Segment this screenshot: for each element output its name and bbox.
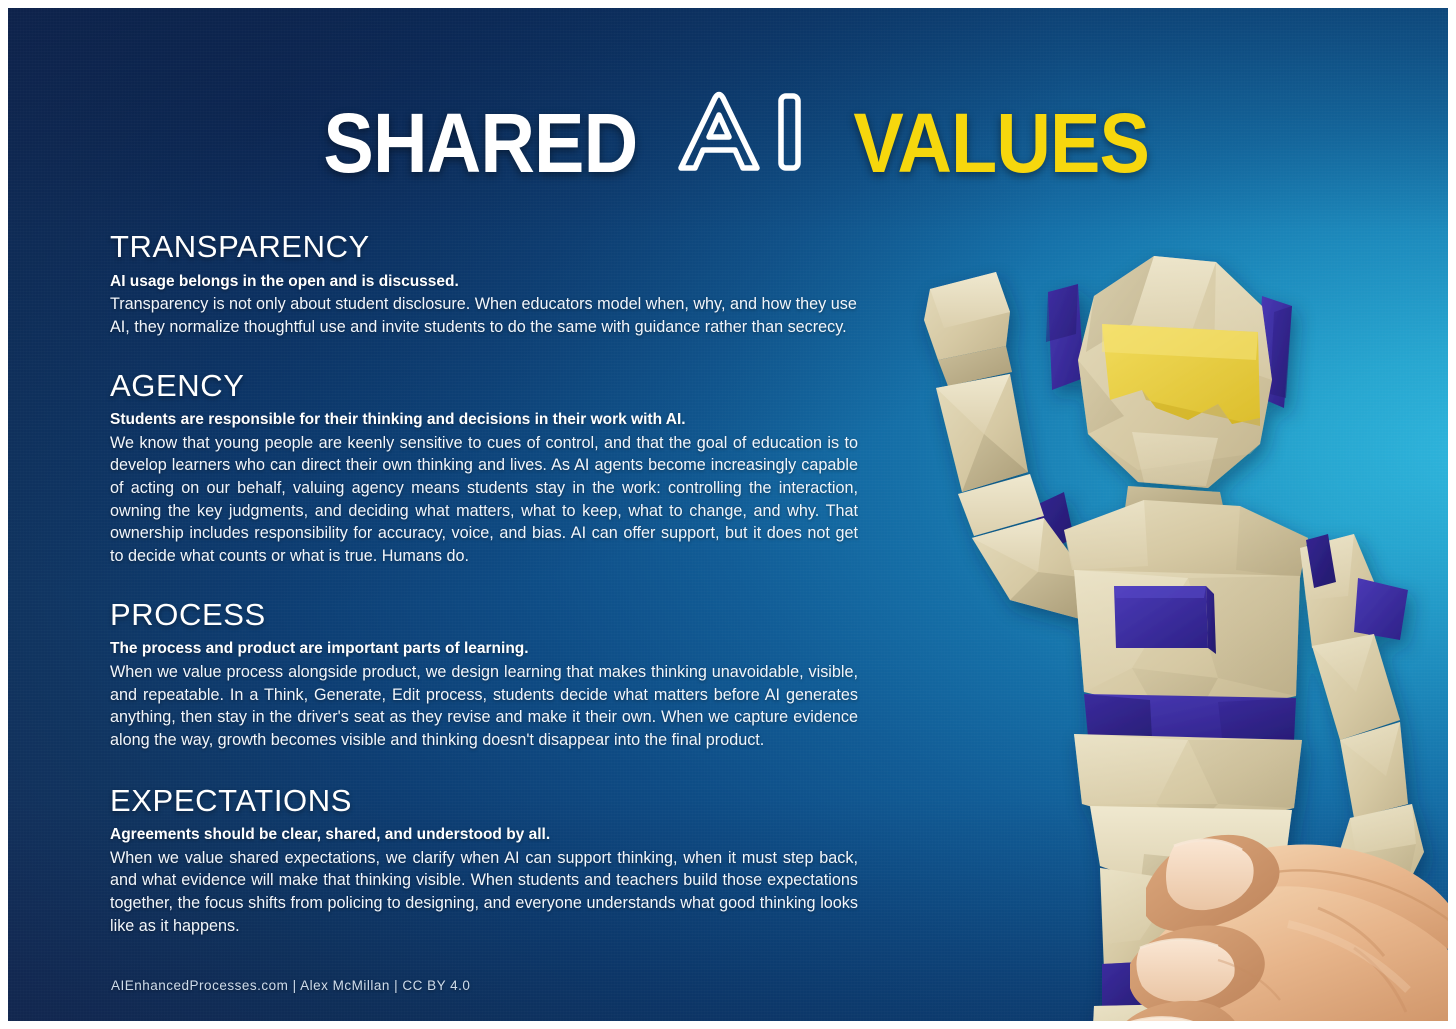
section-lead: The process and product are important pa…: [110, 639, 858, 659]
paper-robot-illustration: [888, 248, 1456, 1029]
section-lead: Students are responsible for their think…: [110, 410, 858, 430]
section-body: When we value shared expectations, we cl…: [110, 847, 858, 938]
title-word-ai-outline: [671, 88, 821, 176]
section-lead: Agreements should be clear, shared, and …: [110, 825, 858, 845]
section-heading: TRANSPARENCY: [110, 230, 858, 265]
section-body: Transparency is not only about student d…: [110, 293, 858, 338]
section-heading: PROCESS: [110, 598, 858, 633]
poster: SHARED VALUES TRANSPARENCY AI usage belo…: [0, 0, 1456, 1029]
section-heading: AGENCY: [110, 369, 858, 404]
section-lead: AI usage belongs in the open and is disc…: [110, 272, 858, 292]
section-agency: AGENCY Students are responsible for thei…: [110, 369, 858, 568]
section-body: When we value process alongside product,…: [110, 661, 858, 752]
poster-title: SHARED VALUES: [8, 84, 1456, 185]
title-word-values: VALUES: [854, 101, 1150, 185]
section-body: We know that young people are keenly sen…: [110, 432, 858, 568]
footer-credit: AIEnhancedProcesses.com | Alex McMillan …: [111, 978, 470, 993]
title-word-shared: SHARED: [324, 101, 638, 185]
values-list: TRANSPARENCY AI usage belongs in the ope…: [110, 230, 858, 937]
section-heading: EXPECTATIONS: [110, 784, 858, 819]
section-transparency: TRANSPARENCY AI usage belongs in the ope…: [110, 230, 858, 339]
section-expectations: EXPECTATIONS Agreements should be clear,…: [110, 784, 858, 938]
section-process: PROCESS The process and product are impo…: [110, 598, 858, 752]
